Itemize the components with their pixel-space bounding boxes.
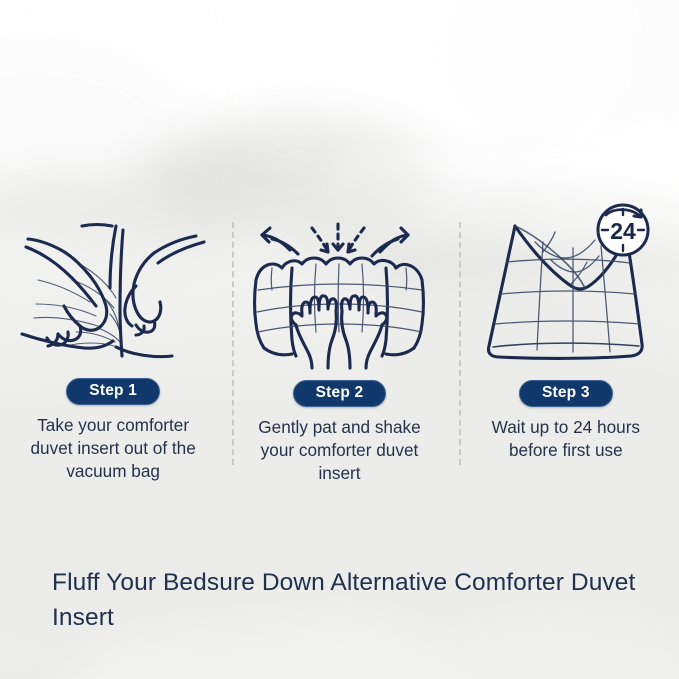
- step-column-2: Step 2 Gently pat and shake your comfort…: [226, 206, 452, 476]
- step-2-pill: Step 2: [293, 380, 387, 407]
- product-infographic: Step 1 Take your comforter duvet insert …: [0, 0, 679, 679]
- step-column-3: 24 Step 3 Wait up to 24 hours before fir…: [453, 206, 679, 476]
- step-3-pill: Step 3: [519, 380, 613, 407]
- step-1-illustration: [0, 206, 226, 366]
- arrow-inward-right: [348, 228, 364, 252]
- arrow-inward-left: [312, 228, 328, 252]
- step-1-caption: Take your comforter duvet insert out of …: [15, 414, 211, 483]
- left-hand: [292, 296, 337, 368]
- headline: Fluff Your Bedsure Down Alternative Comf…: [52, 566, 662, 636]
- step-3-illustration: 24: [453, 206, 679, 368]
- arrow-left: [262, 228, 298, 254]
- right-hand: [342, 296, 387, 368]
- arrow-right: [372, 228, 408, 256]
- step-column-1: Step 1 Take your comforter duvet insert …: [0, 206, 226, 476]
- step-2-caption: Gently pat and shake your comforter duve…: [241, 416, 437, 485]
- step-2-illustration: [226, 206, 452, 368]
- step-3-caption: Wait up to 24 hours before first use: [468, 416, 664, 462]
- clock-badge-label: 24: [610, 218, 636, 244]
- steps-row: Step 1 Take your comforter duvet insert …: [0, 206, 679, 476]
- clock-24-badge: 24: [598, 205, 648, 255]
- step-1-pill: Step 1: [66, 378, 160, 405]
